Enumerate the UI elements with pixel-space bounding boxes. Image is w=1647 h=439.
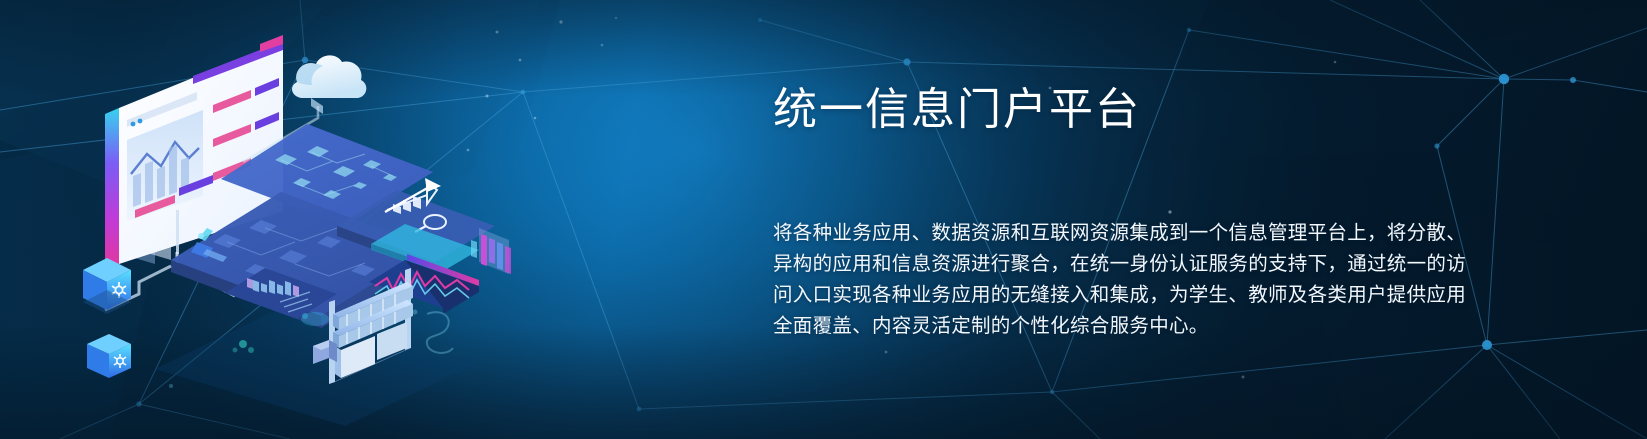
decorative-swirl [413,310,454,353]
description-line-2: 异构的应用和信息资源进行聚合，在统一身份认证服务的支持下，通过统一的访 [773,249,1473,280]
hero-banner: 统一信息门户平台 将各种业务应用、数据资源和互联网资源集成到一个信息管理平台上，… [0,0,1647,439]
settings-cube-lower [87,334,131,378]
description-line-1: 将各种业务应用、数据资源和互联网资源集成到一个信息管理平台上，将分散、 [773,218,1473,249]
page-description: 将各种业务应用、数据资源和互联网资源集成到一个信息管理平台上，将分散、 异构的应… [773,218,1473,342]
description-line-4: 全面覆盖、内容灵活定制的个性化综合服务中心。 [773,311,1473,342]
hero-copy: 统一信息门户平台 将各种业务应用、数据资源和互联网资源集成到一个信息管理平台上，… [773,86,1473,134]
isometric-platform-illustration [75,14,575,426]
description-line-3: 问入口实现各种业务应用的无缝接入和集成，为学生、教师及各类用户提供应用 [773,280,1473,311]
page-title: 统一信息门户平台 [773,86,1473,134]
settings-cube-upper [83,258,131,314]
